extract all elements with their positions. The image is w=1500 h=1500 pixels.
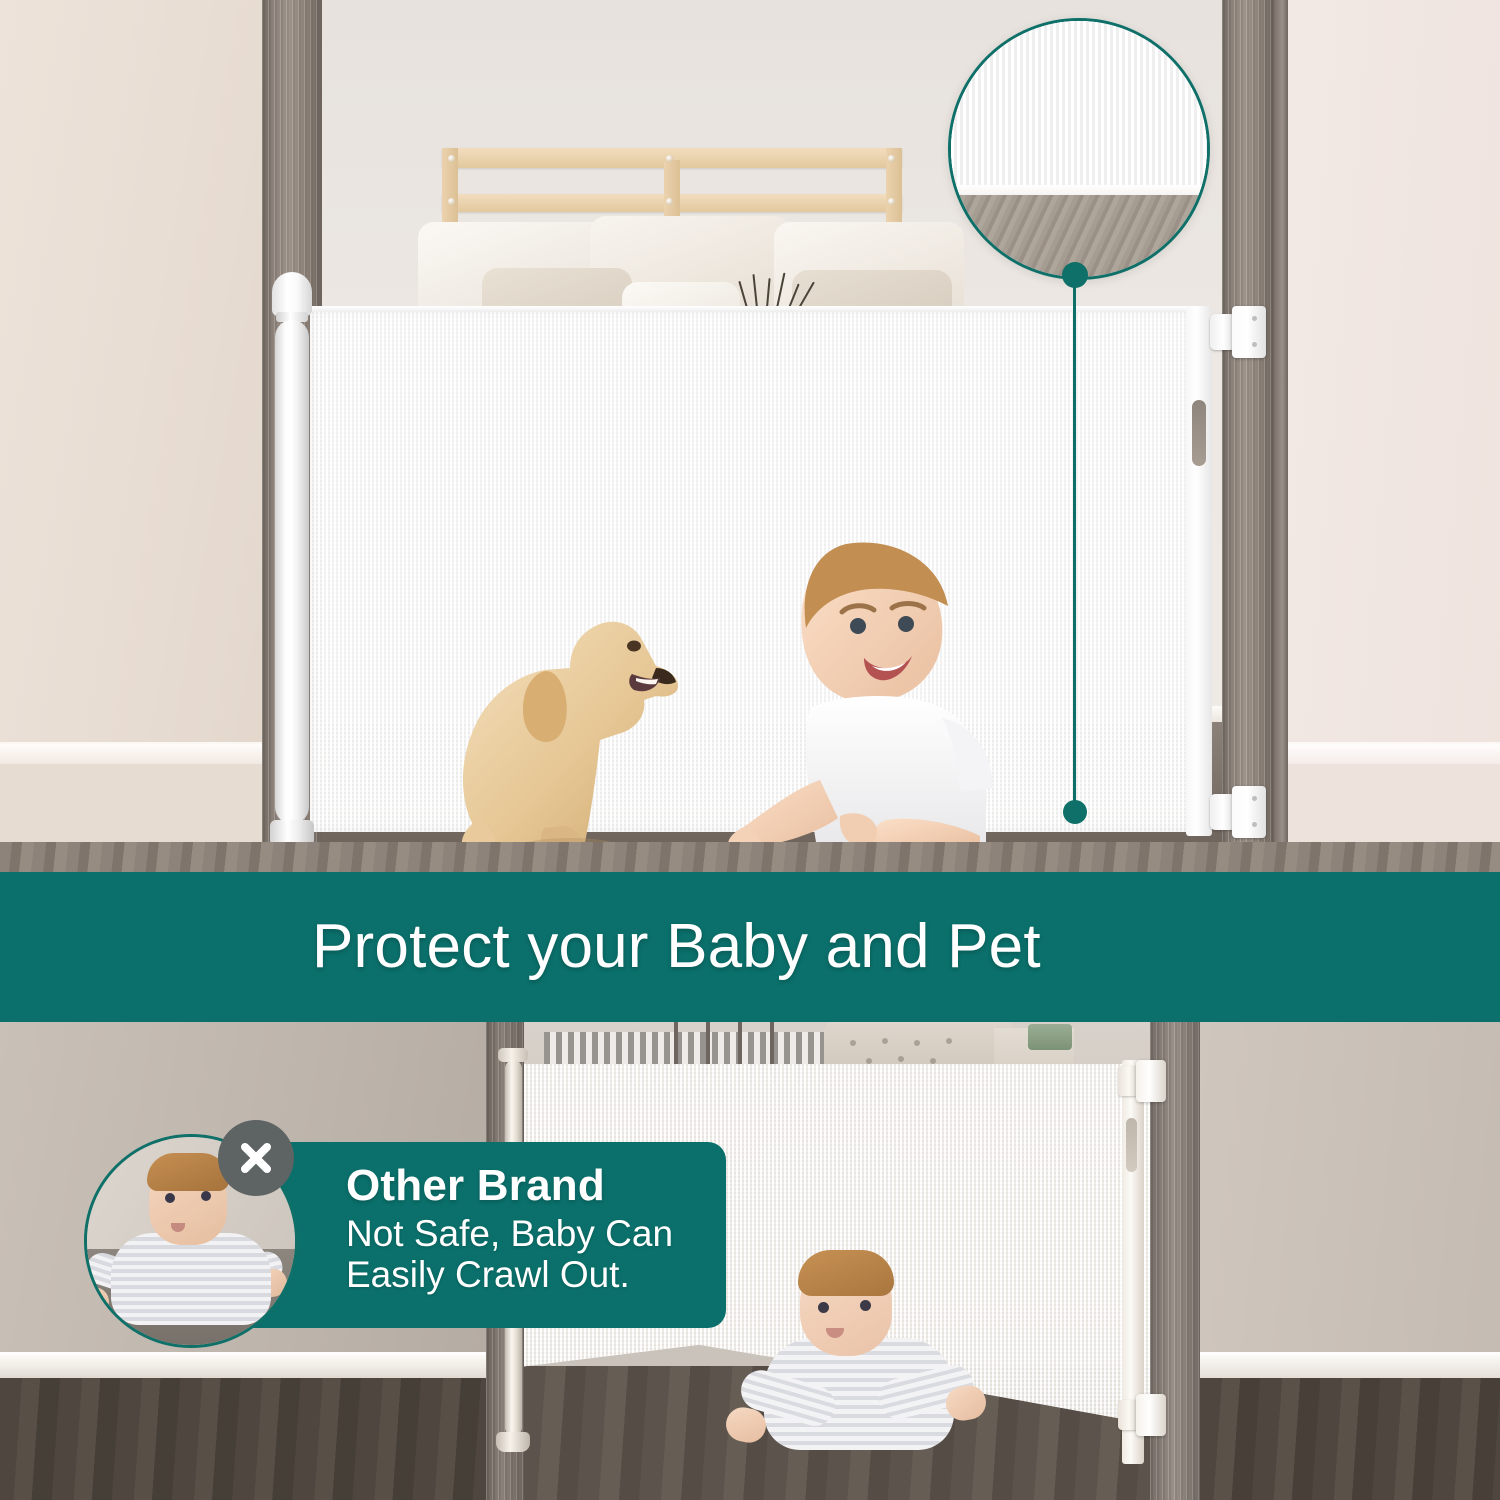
scene2-right-floor (1200, 1378, 1500, 1500)
gate-roller-post[interactable] (270, 272, 314, 850)
magnified-mesh-bottom-edge (951, 185, 1207, 195)
scene2-right-baseboard (1200, 1352, 1500, 1381)
crawling-baby (740, 1250, 990, 1500)
sitting-baby (660, 530, 1030, 860)
door-frame-right (1222, 0, 1274, 872)
left-lower-wall (0, 764, 262, 842)
top-scene-gate-installed (0, 0, 1500, 872)
callout-sub-line-2: Easily Crawl Out. (346, 1254, 776, 1295)
gate-latch-top[interactable] (1210, 306, 1268, 358)
gate-latch-bottom[interactable] (1210, 786, 1268, 838)
roller-tube (275, 320, 309, 824)
callout-anchor-dot-top (1062, 262, 1088, 288)
callout-sub-line-1: Not Safe, Baby Can (346, 1213, 776, 1254)
gate-leading-edge (1186, 306, 1212, 836)
magnified-mesh-texture (951, 21, 1207, 195)
roller-cap (272, 272, 312, 316)
callout-anchor-dot-bottom (1063, 800, 1087, 824)
banner-headline: Protect your Baby and Pet (312, 916, 1041, 978)
product-marketing-image: Protect your Baby and Pet (0, 0, 1500, 1500)
callout-leader-line (1073, 276, 1076, 812)
foreground-floor-strip (0, 842, 1500, 872)
competitor-gate-handle[interactable] (1126, 1118, 1137, 1172)
door-frame-right-trim (1274, 0, 1288, 872)
competitor-latch-bottom[interactable] (1118, 1394, 1166, 1436)
gate-handle-slot[interactable] (1192, 400, 1206, 466)
x-mark-icon (218, 1120, 294, 1196)
crawling-baby-hair (798, 1250, 894, 1296)
headline-banner: Protect your Baby and Pet (0, 872, 1500, 1022)
right-lower-wall (1262, 764, 1500, 842)
scene2-left-baseboard (0, 1352, 486, 1381)
callout-text-group: Other Brand Not Safe, Baby Can Easily Cr… (346, 1164, 776, 1296)
inset-photo-baby-hair (147, 1153, 229, 1191)
mesh-detail-magnifier (948, 18, 1210, 280)
potted-plant (1028, 1024, 1072, 1050)
scene2-left-floor (0, 1378, 486, 1500)
left-baseboard (0, 742, 262, 766)
dried-plant-sprig (742, 268, 812, 308)
inset-photo-baby-body (111, 1233, 271, 1325)
other-brand-callout: Other Brand Not Safe, Baby Can Easily Cr… (66, 1120, 726, 1350)
callout-brand-label: Other Brand (346, 1164, 776, 1209)
right-baseboard (1262, 742, 1500, 766)
competitor-latch-top[interactable] (1118, 1060, 1166, 1102)
